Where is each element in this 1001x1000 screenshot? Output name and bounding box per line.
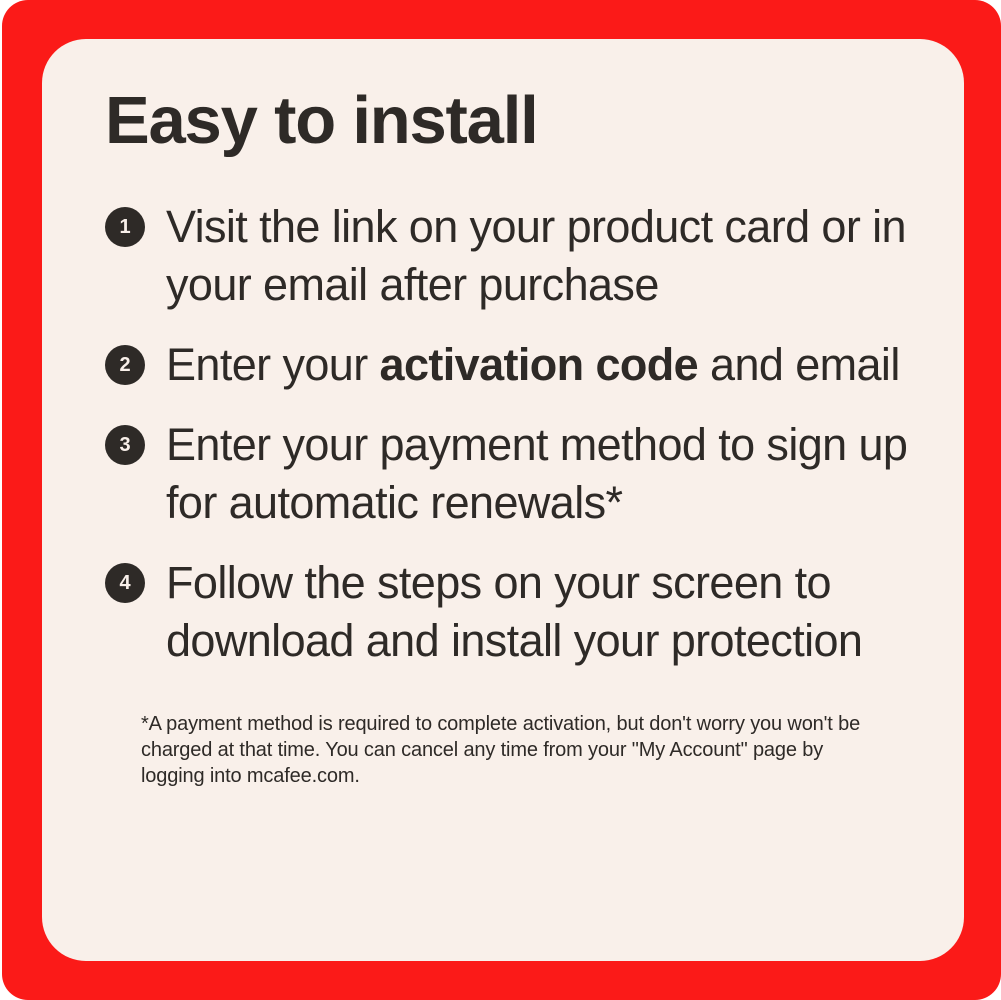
step-text-2: Enter your activation code and email (166, 336, 935, 394)
content-area: Easy to install 1 Visit the link on your… (42, 39, 964, 961)
red-border-card: Easy to install 1 Visit the link on your… (2, 0, 1001, 1000)
step-number-badge-2: 2 (105, 345, 145, 385)
step-number-badge-1: 1 (105, 207, 145, 247)
step-text-3: Enter your payment method to sign up for… (166, 416, 935, 532)
step-text-2-emphasis: activation code (380, 339, 699, 390)
poster-frame: Easy to install 1 Visit the link on your… (0, 0, 1001, 1000)
list-item: 1 Visit the link on your product card or… (105, 198, 935, 314)
step-text-3-before: Enter your payment method to sign up for… (166, 419, 907, 528)
step-number-badge-3: 3 (105, 425, 145, 465)
step-text-2-before: Enter your (166, 339, 380, 390)
page-title: Easy to install (105, 87, 538, 154)
cream-content-panel: Easy to install 1 Visit the link on your… (42, 39, 964, 961)
list-item: 2 Enter your activation code and email (105, 336, 935, 394)
step-text-2-after: and email (698, 339, 900, 390)
list-item: 4 Follow the steps on your screen to dow… (105, 554, 935, 670)
step-text-1-before: Visit the link on your product card or i… (166, 201, 906, 310)
footnote-disclaimer: *A payment method is required to complet… (141, 711, 889, 789)
list-item: 3 Enter your payment method to sign up f… (105, 416, 935, 532)
step-text-4: Follow the steps on your screen to downl… (166, 554, 935, 670)
step-number-badge-4: 4 (105, 563, 145, 603)
steps-list: 1 Visit the link on your product card or… (105, 198, 935, 692)
step-text-1: Visit the link on your product card or i… (166, 198, 935, 314)
step-text-4-before: Follow the steps on your screen to downl… (166, 557, 862, 666)
